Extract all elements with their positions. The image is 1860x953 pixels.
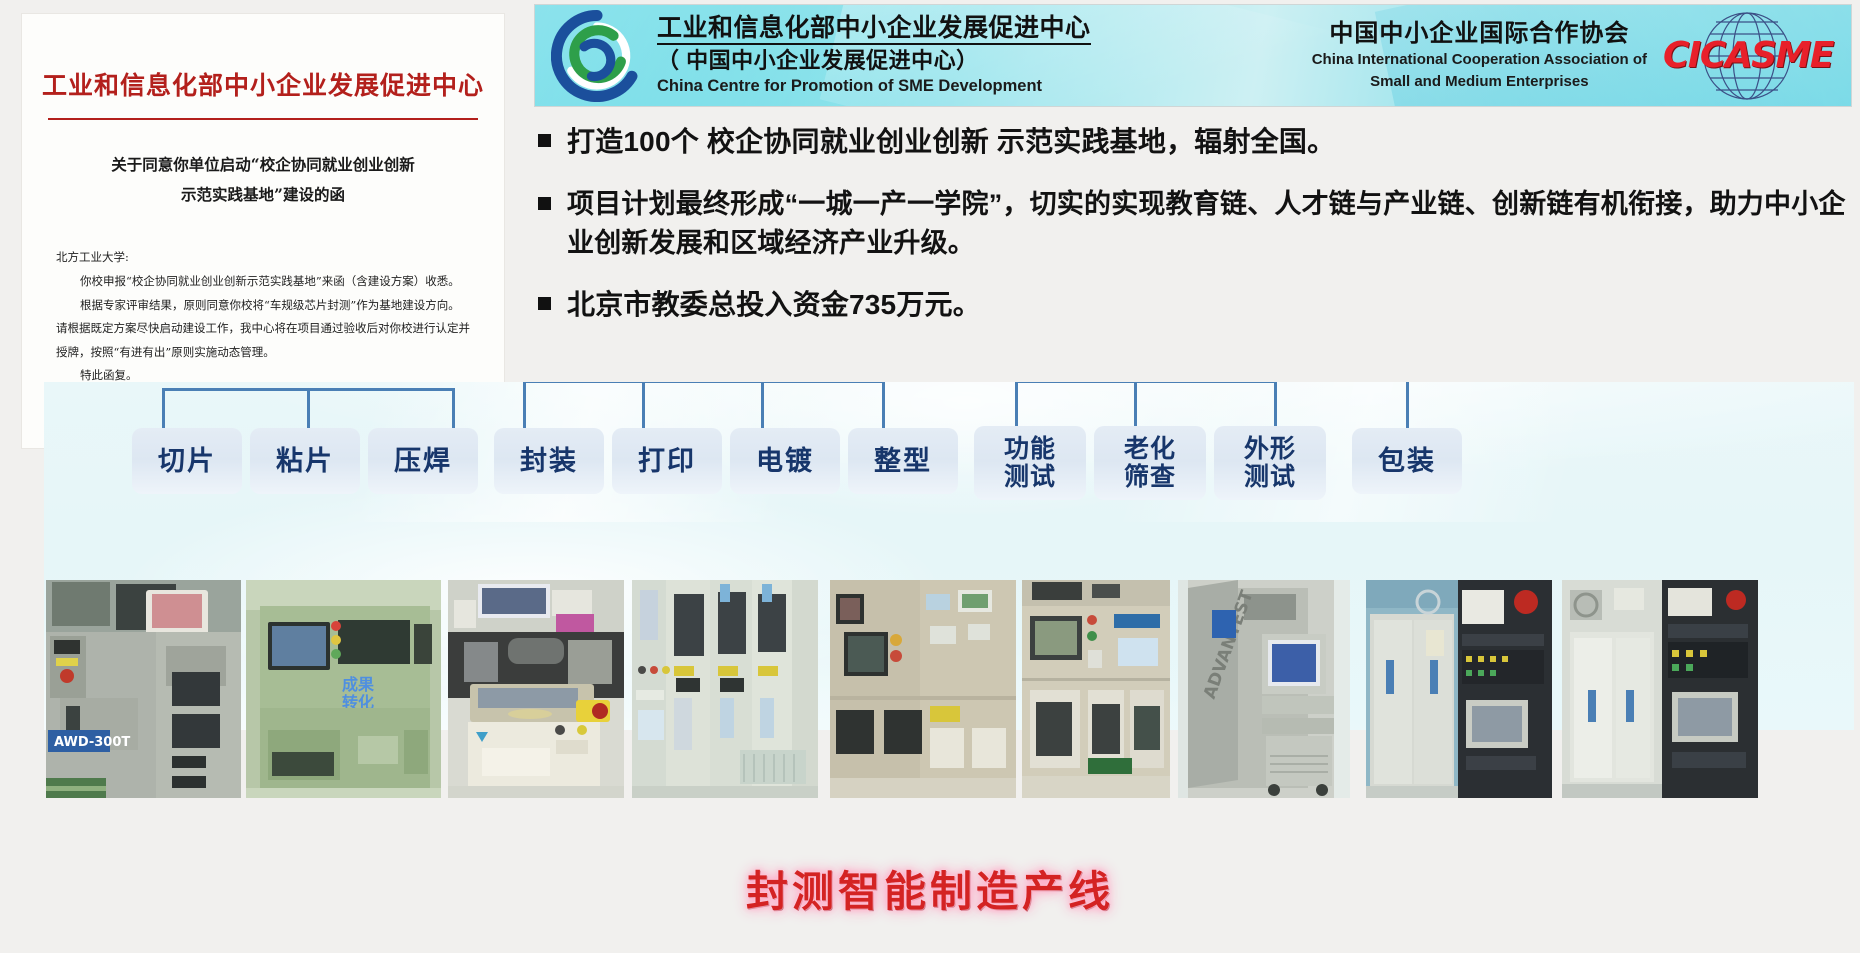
process-step-fengzhuang[interactable]: 封装 [494,428,604,494]
banner-left-cn-line2: （ 中国中小企业发展促进中心） [657,47,1091,75]
equipment-photo-5 [830,580,1016,798]
equipment-photo-9 [1562,580,1758,798]
process-step-dayin[interactable]: 打印 [612,428,722,494]
bullet-square-icon [538,134,551,147]
process-step-yahan[interactable]: 压焊 [368,428,478,494]
bullet-text-2: 项目计划最终形成“一城一产一学院”，切实的实现教育链、人才链与产业链、创新链有机… [567,185,1850,263]
bracket-stem-group3 [1134,382,1137,432]
bullet-square-icon [538,297,551,310]
bullet-text-3: 北京市教委总投入资金735万元。 [567,285,981,326]
process-step-baozhuang[interactable]: 包装 [1352,428,1462,494]
bracket-group-2 [523,382,885,432]
letter-recipient: 北方工业大学: [56,246,470,270]
banner-right-texts: 中国中小企业国际合作协会 China International Coopera… [1312,20,1647,92]
process-step-label: 打印 [638,446,696,476]
equipment-photo-7: ADVANTEST [1178,580,1350,798]
organization-banner: 工业和信息化部中小企业发展促进中心 （ 中国中小企业发展促进中心） China … [534,4,1852,107]
swirl-logo-icon [551,10,643,102]
process-step-label: 外形测试 [1244,435,1296,491]
bullet-item-2: 项目计划最终形成“一城一产一学院”，切实的实现教育链、人才链与产业链、创新链有机… [538,185,1850,263]
letter-subject-line2: 示范实践基地”建设的函 [66,180,460,210]
process-step-label: 粘片 [276,446,334,476]
equipment-photo-6 [1022,580,1170,798]
banner-right-en-line1: China International Cooperation Associat… [1312,51,1647,70]
letter-subject-line1: 关于同意你单位启动“校企协同就业创业创新 [66,150,460,180]
cicasme-wordmark: CICASME [1657,35,1839,76]
process-step-laohua-shaicha[interactable]: 老化筛查 [1094,426,1206,500]
process-step-zhanpian[interactable]: 粘片 [250,428,360,494]
process-step-label: 电镀 [756,446,814,476]
process-step-label: 整型 [874,446,932,476]
bullet-item-1: 打造100个 校企协同就业创业创新 示范实践基地，辐射全国。 [538,122,1850,163]
banner-left-org: 工业和信息化部中小企业发展促进中心 （ 中国中小企业发展促进中心） China … [535,5,1235,106]
process-step-waixing-ceshi[interactable]: 外形测试 [1214,426,1326,500]
process-step-zhengxing[interactable]: 整型 [848,428,958,494]
bracket-stem-packaging [1406,382,1409,432]
process-step-label: 老化筛查 [1124,435,1176,491]
bullet-text-1: 打造100个 校企协同就业创业创新 示范实践基地，辐射全国。 [567,122,1335,163]
bracket-group-3 [1015,382,1277,432]
banner-left-texts: 工业和信息化部中小企业发展促进中心 （ 中国中小企业发展促进中心） China … [657,14,1091,97]
banner-left-en-line: China Centre for Promotion of SME Develo… [657,77,1091,97]
banner-left-cn-line1: 工业和信息化部中小企业发展促进中心 [657,14,1091,45]
equipment-photo-4 [632,580,818,798]
process-step-diandu[interactable]: 电镀 [730,428,840,494]
process-step-gongneng-ceshi[interactable]: 功能测试 [974,426,1086,500]
process-step-label: 封装 [520,446,578,476]
banner-right-org: 中国中小企业国际合作协会 China International Coopera… [1235,5,1851,106]
equipment-photo-8 [1366,580,1552,798]
bracket-stem-group2-b [761,382,764,432]
letter-paragraph-2: 根据专家评审结果，原则同意你校将“车规级芯片封测”作为基地建设方向。请根据既定方… [56,294,470,365]
slide-root: 工业和信息化部中小企业发展促进中心 关于同意你单位启动“校企协同就业创业创新 示… [0,0,1860,953]
letter-body: 北方工业大学: 你校申报“校企协同就业创业创新示范实践基地”来函（含建设方案）收… [56,246,470,387]
letter-divider [48,118,478,120]
equipment-photo-2: 成果 转化 [246,580,441,798]
letter-paragraph-1: 你校申报“校企协同就业创业创新示范实践基地”来函（含建设方案）收悉。 [56,270,470,294]
process-step-label: 压焊 [394,446,452,476]
process-step-qiepian[interactable]: 切片 [132,428,242,494]
bullet-item-3: 北京市教委总投入资金735万元。 [538,285,1850,326]
letter-subject: 关于同意你单位启动“校企协同就业创业创新 示范实践基地”建设的函 [66,150,460,210]
slide-caption: 封测智能制造产线 [0,858,1860,919]
equipment-photo-1: AWD-300T [46,580,241,798]
bullet-list: 打造100个 校企协同就业创业创新 示范实践基地，辐射全国。 项目计划最终形成“… [538,122,1850,347]
process-step-label: 功能测试 [1004,435,1056,491]
bullet-square-icon [538,197,551,210]
banner-right-cn-line: 中国中小企业国际合作协会 [1312,20,1647,49]
equipment-photo-3 [448,580,624,798]
svg-text:AWD-300T: AWD-300T [54,735,130,750]
cicasme-logo: CICASME [1653,8,1841,104]
svg-text:成果: 成果 [342,675,374,694]
letter-header: 工业和信息化部中小企业发展促进中心 [22,66,504,102]
process-step-label: 切片 [158,446,216,476]
process-step-label: 包装 [1378,446,1436,476]
bracket-stem-group1 [307,388,310,432]
bracket-stem-group2-a [642,382,645,432]
banner-right-en-line2: Small and Medium Enterprises [1312,73,1647,92]
